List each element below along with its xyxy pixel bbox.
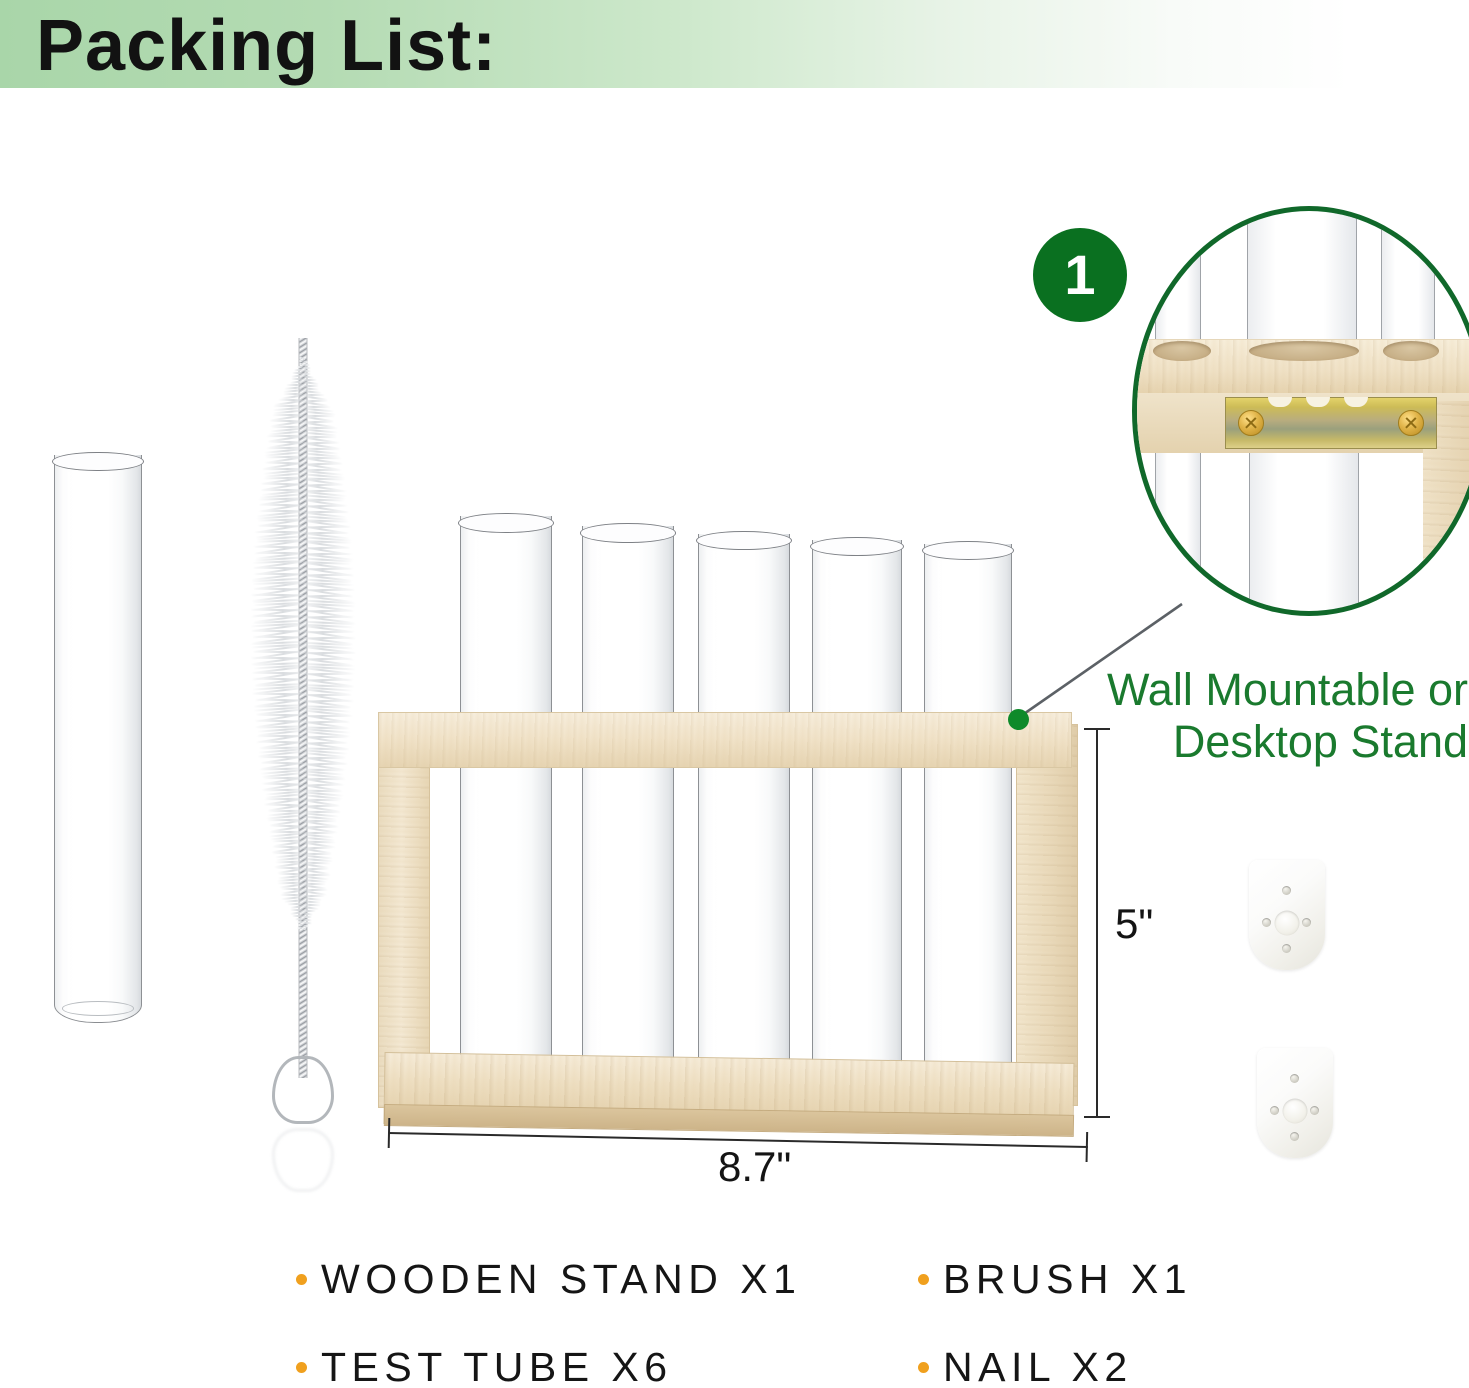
list-item: BRUSH X1 bbox=[918, 1256, 1192, 1303]
detail-tube-lower-mid bbox=[1249, 453, 1359, 616]
list-item: NAIL X2 bbox=[918, 1344, 1133, 1388]
plate-pin-bottom bbox=[1290, 1132, 1299, 1141]
bracket-notch-3 bbox=[1344, 397, 1368, 407]
callout-text-line-1: Wall Mountable or bbox=[1096, 664, 1468, 716]
plate-center-hole bbox=[1283, 1098, 1308, 1123]
stand-left-post bbox=[378, 712, 430, 1108]
plate-pin-right bbox=[1302, 918, 1311, 927]
detail-hole-left bbox=[1153, 341, 1211, 361]
plate-center-hole bbox=[1275, 910, 1300, 935]
plate-pin-top bbox=[1290, 1074, 1299, 1083]
callout-number-badge: 1 bbox=[1033, 228, 1127, 322]
list-item: WOODEN STAND X1 bbox=[296, 1256, 801, 1303]
cleaning-brush bbox=[245, 338, 361, 1168]
wall-mount-plate-2 bbox=[1257, 1048, 1333, 1158]
stand-right-post bbox=[1016, 724, 1078, 1106]
bracket-screw-right bbox=[1398, 410, 1424, 436]
dimension-line bbox=[1096, 728, 1098, 1118]
detail-zoom-circle bbox=[1132, 206, 1469, 616]
test-tube-2 bbox=[582, 526, 674, 1100]
detail-tube-lower-left bbox=[1155, 453, 1201, 616]
bracket-notch-1 bbox=[1268, 397, 1292, 407]
list-item: TEST TUBE X6 bbox=[296, 1344, 673, 1388]
plate-pin-left bbox=[1262, 918, 1271, 927]
brush-loop-handle bbox=[272, 1056, 334, 1124]
test-tube-3 bbox=[698, 534, 790, 1100]
plate-pin-bottom bbox=[1282, 944, 1291, 953]
callout-anchor-dot bbox=[1008, 709, 1029, 730]
callout-text-line-2: Desktop Stand bbox=[1096, 716, 1468, 768]
bracket-notch-2 bbox=[1306, 397, 1330, 407]
height-dimension-line bbox=[1084, 728, 1110, 1118]
test-tube-1 bbox=[460, 516, 552, 1100]
plate-pin-top bbox=[1282, 886, 1291, 895]
page-title: Packing List: bbox=[36, 2, 497, 90]
test-tube-4 bbox=[812, 540, 902, 1100]
detail-hole-right bbox=[1383, 341, 1439, 361]
wall-mount-plate-1 bbox=[1249, 860, 1325, 970]
wooden-stand bbox=[378, 712, 1078, 1127]
detail-hole-mid bbox=[1249, 341, 1359, 361]
width-dimension-label: 8.7" bbox=[718, 1143, 791, 1191]
bullet-icon bbox=[918, 1362, 929, 1373]
list-item-label: BRUSH X1 bbox=[943, 1256, 1192, 1303]
brush-loop-reflection bbox=[272, 1128, 334, 1192]
list-item-label: NAIL X2 bbox=[943, 1344, 1133, 1388]
list-item-label: WOODEN STAND X1 bbox=[321, 1256, 801, 1303]
bullet-icon bbox=[296, 1362, 307, 1373]
header-banner: Packing List: bbox=[0, 0, 1469, 88]
list-item-label: TEST TUBE X6 bbox=[321, 1344, 673, 1388]
stand-top-rail bbox=[378, 712, 1072, 768]
product-packing-list-image: Packing List: 5" 8.7" bbox=[0, 0, 1469, 1388]
dimension-tick-right bbox=[1086, 1132, 1089, 1162]
detail-tube-left bbox=[1155, 206, 1201, 361]
bullet-icon bbox=[296, 1274, 307, 1285]
plate-pin-right bbox=[1310, 1106, 1319, 1115]
tube-highlight bbox=[68, 472, 76, 1012]
callout-text: Wall Mountable or Desktop Stand bbox=[1096, 664, 1468, 768]
test-tube-5 bbox=[924, 544, 1012, 1100]
plate-pin-left bbox=[1270, 1106, 1279, 1115]
test-tube-single bbox=[54, 455, 142, 1023]
bracket-screw-left bbox=[1238, 410, 1264, 436]
height-dimension-label: 5" bbox=[1115, 900, 1153, 948]
keyhole-bracket bbox=[1225, 397, 1437, 449]
dimension-tick-bottom bbox=[1084, 1116, 1110, 1118]
bullet-icon bbox=[918, 1274, 929, 1285]
